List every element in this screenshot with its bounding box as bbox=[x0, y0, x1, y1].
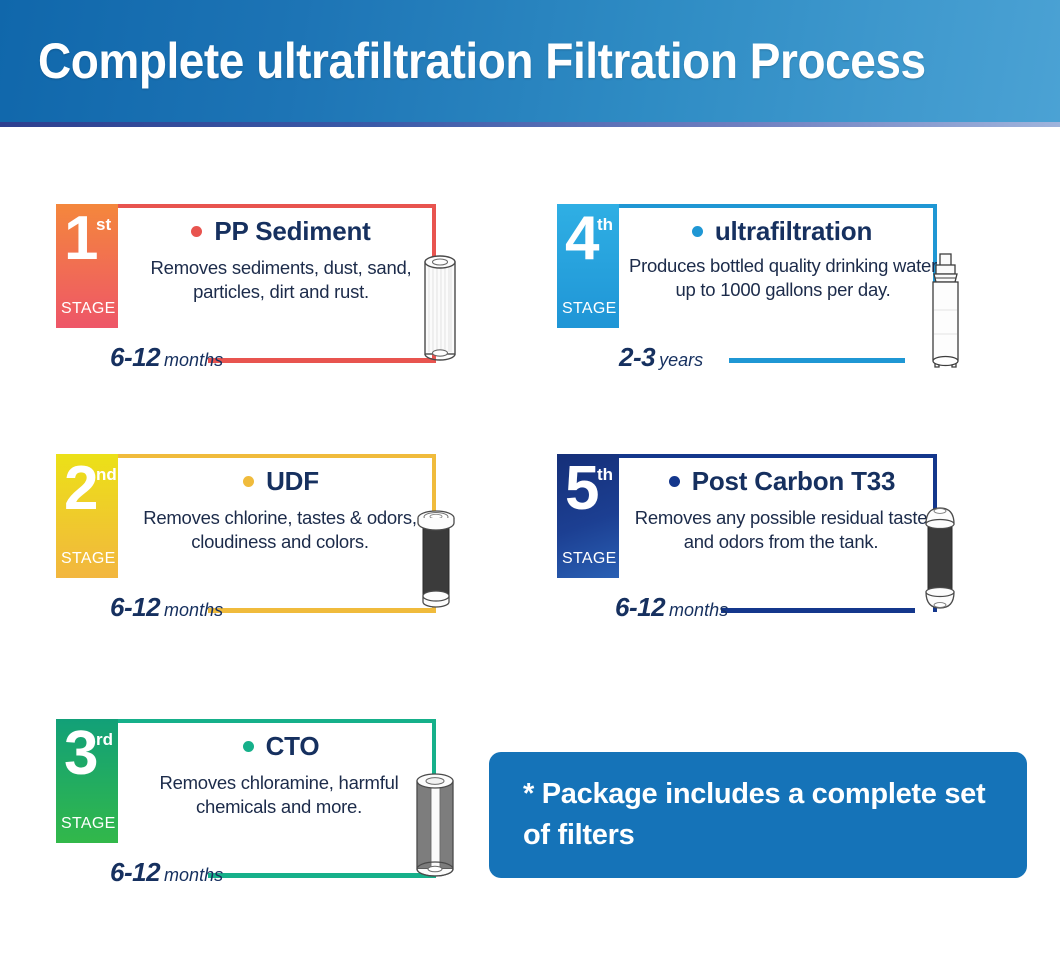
stage-label: STAGE bbox=[562, 300, 617, 318]
lifespan-value: 6-12 bbox=[110, 857, 160, 887]
package-note-box: * Package includes a complete set of fil… bbox=[489, 752, 1027, 878]
stage-card-3: 3 rd STAGE CTO Removes chloramine, harmf… bbox=[48, 711, 468, 896]
stage-badge-3: 3 rd STAGE bbox=[56, 719, 118, 843]
stage-lifespan: 6-12months bbox=[110, 342, 223, 373]
stage-title: PP Sediment bbox=[214, 216, 370, 247]
t33-post-carbon-filter-icon bbox=[915, 502, 965, 621]
bracket-top-line bbox=[80, 719, 436, 723]
stage-description: Removes any possible residual taste and … bbox=[619, 506, 943, 555]
stage-badge-1: 1 st STAGE bbox=[56, 204, 118, 328]
pp-sediment-filter-icon bbox=[416, 250, 464, 367]
stage-number: 5 bbox=[565, 458, 598, 520]
page-header-banner: Complete ultrafiltration Filtration Proc… bbox=[0, 0, 1060, 122]
lifespan-value: 6-12 bbox=[615, 592, 665, 622]
package-note-text: * Package includes a complete set of fil… bbox=[489, 774, 1027, 856]
bracket-top-line bbox=[80, 204, 436, 208]
stage-description: Removes sediments, dust, sand, particles… bbox=[128, 256, 434, 305]
stage-label: STAGE bbox=[61, 815, 116, 833]
udf-carbon-filter-icon bbox=[410, 504, 462, 619]
stage-label: STAGE bbox=[562, 550, 617, 568]
stage-lifespan: 6-12months bbox=[110, 857, 223, 888]
stage-lifespan: 6-12months bbox=[110, 592, 223, 623]
stage-number: 1 bbox=[64, 208, 97, 270]
stage-ordinal: nd bbox=[96, 466, 117, 483]
bullet-dot-icon bbox=[692, 226, 703, 237]
stage-ordinal: st bbox=[96, 216, 111, 233]
bracket-bottom-line bbox=[208, 873, 436, 878]
stage-title-row: Post Carbon T33 bbox=[637, 466, 927, 497]
bracket-top-line bbox=[80, 454, 436, 458]
page-title: Complete ultrafiltration Filtration Proc… bbox=[38, 32, 926, 90]
bracket-top-line bbox=[581, 454, 937, 458]
stage-title-row: PP Sediment bbox=[136, 216, 426, 247]
stage-card-5: 5 th STAGE Post Carbon T33 Removes any p… bbox=[549, 446, 969, 631]
stage-number: 3 bbox=[64, 723, 97, 785]
lifespan-unit: months bbox=[164, 600, 223, 620]
stage-title-row: CTO bbox=[136, 731, 426, 762]
stage-badge-2: 2 nd STAGE bbox=[56, 454, 118, 578]
stage-description: Removes chloramine, harmful chemicals an… bbox=[120, 771, 438, 820]
stage-ordinal: rd bbox=[96, 731, 113, 748]
lifespan-unit: months bbox=[164, 350, 223, 370]
lifespan-value: 2-3 bbox=[619, 342, 655, 372]
stage-number: 2 bbox=[64, 458, 97, 520]
stage-number: 4 bbox=[565, 208, 598, 270]
header-underline bbox=[0, 122, 1060, 127]
bracket-bottom-line bbox=[208, 358, 436, 363]
bracket-bottom-line bbox=[721, 608, 915, 613]
stage-ordinal: th bbox=[597, 466, 613, 483]
stage-card-4: 4 th STAGE ultrafiltration Produces bott… bbox=[549, 196, 969, 381]
stage-label: STAGE bbox=[61, 550, 116, 568]
stage-description: Removes chlorine, tastes & odors, cloudi… bbox=[120, 506, 440, 555]
stage-lifespan: 2-3years bbox=[619, 342, 703, 373]
stage-title-row: UDF bbox=[136, 466, 426, 497]
stage-description: Produces bottled quality drinking water … bbox=[623, 254, 943, 303]
bullet-dot-icon bbox=[669, 476, 680, 487]
bullet-dot-icon bbox=[191, 226, 202, 237]
stage-title: Post Carbon T33 bbox=[692, 466, 896, 497]
stage-label: STAGE bbox=[61, 300, 116, 318]
lifespan-unit: months bbox=[164, 865, 223, 885]
stage-ordinal: th bbox=[597, 216, 613, 233]
stage-title-row: ultrafiltration bbox=[637, 216, 927, 247]
stage-lifespan: 6-12months bbox=[615, 592, 728, 623]
stage-badge-5: 5 th STAGE bbox=[557, 454, 619, 578]
stage-card-1: 1 st STAGE PP Sediment Removes sediments… bbox=[48, 196, 468, 381]
bracket-top-line bbox=[581, 204, 937, 208]
uf-membrane-filter-icon bbox=[921, 248, 969, 379]
stage-title: CTO bbox=[266, 731, 320, 762]
bracket-bottom-line bbox=[729, 358, 905, 363]
bracket-bottom-line bbox=[208, 608, 436, 613]
bullet-dot-icon bbox=[243, 476, 254, 487]
lifespan-value: 6-12 bbox=[110, 342, 160, 372]
stage-card-2: 2 nd STAGE UDF Removes chlorine, tastes … bbox=[48, 446, 468, 631]
lifespan-unit: years bbox=[659, 350, 703, 370]
stage-title: ultrafiltration bbox=[715, 216, 872, 247]
bullet-dot-icon bbox=[243, 741, 254, 752]
lifespan-unit: months bbox=[669, 600, 728, 620]
stage-title: UDF bbox=[266, 466, 319, 497]
cto-carbon-block-filter-icon bbox=[406, 767, 464, 886]
stage-badge-4: 4 th STAGE bbox=[557, 204, 619, 328]
lifespan-value: 6-12 bbox=[110, 592, 160, 622]
